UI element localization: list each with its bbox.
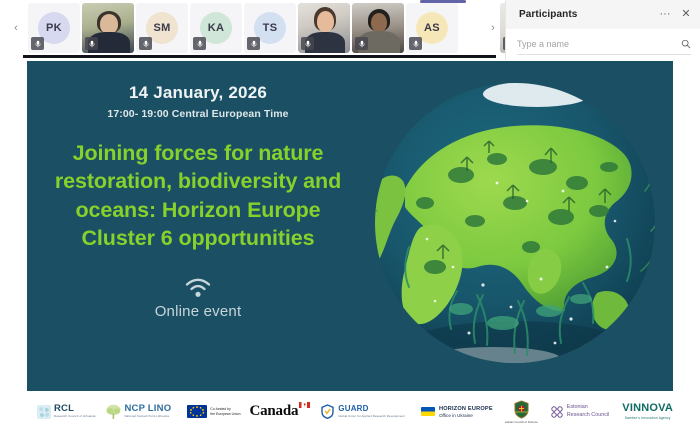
logo-he-name: HORIZON EUROPE [439,406,493,412]
estonian-mark-icon [550,405,564,419]
participants-panel-title: Participants [519,9,577,20]
logo-ncp-lino: NCP LINO National Contact Point Lithuani… [105,404,171,420]
online-event-block: Online event [27,275,369,320]
mic-muted-icon [355,37,368,50]
close-icon[interactable]: ✕ [680,9,692,21]
logo-he-subtitle: Office in Ukraine [439,413,493,418]
logo-latvian-council: Latvian Council of Science [505,400,538,424]
logo-ncp-lino-subtitle: National Contact Point Lithuania [124,415,171,419]
logo-vinnova: VINNOVA Sweden's Innovation Agency [622,403,673,420]
participants-panel-header: Participants ··· ✕ [506,0,700,29]
search-icon[interactable] [681,39,691,49]
logo-guard-subtitle: Global Union for Applied Research Develo… [338,415,405,419]
participant-tile[interactable]: SM [136,3,188,53]
participant-tile-active-speaker[interactable] [298,3,350,53]
mic-muted-icon [247,37,260,50]
participant-tile[interactable] [352,3,404,53]
mic-muted-icon [193,37,206,50]
filmstrip-divider [23,55,496,58]
logo-guard: GUARD Global Union for Applied Research … [320,404,405,419]
participant-filmstrip: ‹ PK SM [0,0,505,60]
guard-mark-icon [320,404,335,419]
mic-muted-icon [301,37,314,50]
slide-text-column: 14 January, 2026 17:00- 19:00 Central Eu… [27,83,369,320]
canada-wordmark: Canada [249,404,298,419]
more-options-icon[interactable]: ··· [659,9,671,21]
crest-icon [512,400,531,419]
search-placeholder: Type a name [517,39,681,49]
earth-globe-illustration [365,71,665,383]
filmstrip-prev-button[interactable]: ‹ [9,20,23,36]
logo-estonian-research-council: Estonian Research Council [550,404,610,419]
logo-rcl: RCL Research Council of Lithuania [37,404,95,419]
logo-vinnova-subtitle: Sweden's Innovation Agency [625,416,671,420]
event-date: 14 January, 2026 [27,83,369,103]
logo-erc-line1: Estonian [567,404,610,411]
canada-flag-icon [299,402,310,408]
filmstrip-next-button[interactable]: › [486,20,500,36]
search-input[interactable]: Type a name [517,35,691,55]
participant-tile[interactable]: PK [28,3,80,53]
mic-muted-icon [85,37,98,50]
logo-rcl-subtitle: Research Council of Lithuania [54,415,95,419]
eu-funding-line2: the European Union [210,412,240,416]
ukraine-flag-icon [421,407,435,416]
rcl-mark-icon [37,405,51,419]
filmstrip-tiles: PK SM [28,3,458,53]
chevron-left-icon: ‹ [14,22,18,34]
mic-muted-icon [139,37,152,50]
logo-guard-name: GUARD [338,405,405,413]
participant-tile[interactable] [82,3,134,53]
chevron-right-icon: › [491,22,495,34]
meeting-top-bar: ‹ PK SM [0,0,700,60]
logo-horizon-europe-ukraine: HORIZON EUROPE Office in Ukraine [421,406,493,418]
mic-muted-icon [31,37,44,50]
logo-canada: Canada [249,404,310,419]
sponsor-logo-bar: RCL Research Council of Lithuania NCP LI… [27,391,673,432]
logo-rcl-name: RCL [54,404,95,414]
logo-latvian-council-subtitle: Latvian Council of Science [505,420,538,424]
logo-erc-line2: Research Council [567,412,610,419]
participant-tile[interactable]: AS [406,3,458,53]
eu-flag-icon [187,405,207,418]
event-headline: Joining forces for nature restoration, b… [27,139,369,253]
wifi-icon [183,275,213,299]
logo-vinnova-name: VINNOVA [622,403,673,414]
shared-slide[interactable]: 14 January, 2026 17:00- 19:00 Central Eu… [27,61,673,432]
online-event-label: Online event [155,303,242,320]
participants-search-row: Type a name [506,29,700,60]
tree-icon [105,404,122,420]
participants-panel: Participants ··· ✕ Type a name [505,0,700,60]
logo-ncp-lino-name: NCP LINO [124,404,171,414]
event-time: 17:00- 19:00 Central European Time [27,108,369,120]
logo-european-union: Co-funded by the European Union [187,405,240,418]
participant-tile[interactable]: KA [190,3,242,53]
mic-muted-icon [409,37,422,50]
participant-tile[interactable]: TS [244,3,296,53]
